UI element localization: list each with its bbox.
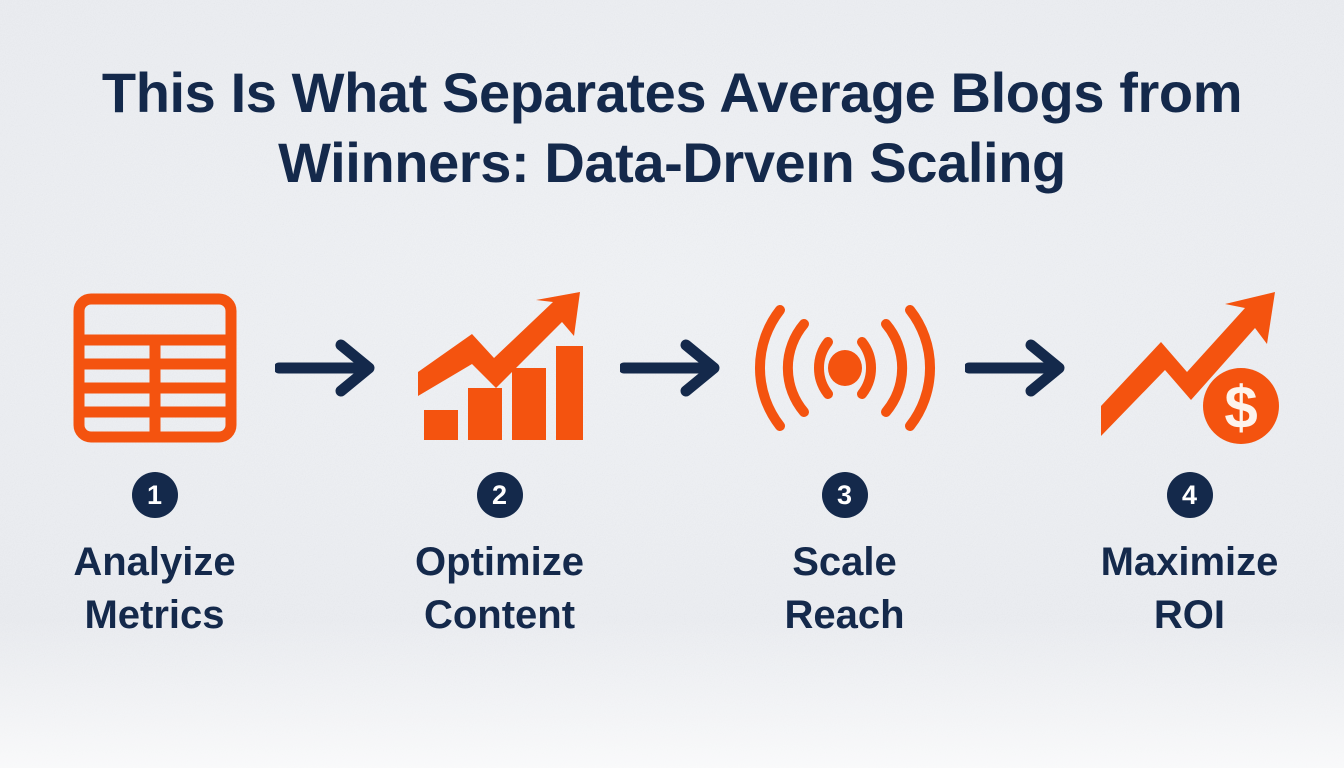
flow-connector-2 [616, 282, 728, 454]
step-4-number-badge: 4 [1167, 472, 1213, 518]
step-3-number-badge: 3 [822, 472, 868, 518]
step-4-label: Maximize ROI [1101, 536, 1279, 642]
step-4-icon-slot: $ [1095, 282, 1285, 454]
step-3-label-line-1: Scale [784, 536, 904, 589]
step-2-label-line-2: Content [415, 589, 584, 642]
bar-chart-growth-icon [414, 290, 586, 446]
flow-step-1[interactable]: 1 Analyize Metrics [38, 282, 271, 642]
step-1-label-line-2: Metrics [73, 589, 235, 642]
step-3-icon-slot [754, 282, 936, 454]
page-title: This Is What Separates Average Blogs fro… [0, 58, 1344, 198]
step-4-label-line-2: ROI [1101, 589, 1279, 642]
flow-step-4[interactable]: $ 4 Maximize ROI [1073, 282, 1306, 642]
flow-step-2[interactable]: 2 Optimize Content [383, 282, 616, 642]
step-2-icon-slot [414, 282, 586, 454]
infographic-canvas: This Is What Separates Average Blogs fro… [0, 0, 1344, 768]
step-1-icon-slot [72, 282, 238, 454]
flow-connector-3 [961, 282, 1073, 454]
arrow-right-icon [275, 339, 379, 397]
step-2-number-badge: 2 [477, 472, 523, 518]
trend-arrow-dollar-icon: $ [1095, 288, 1285, 448]
title-line-1: This Is What Separates Average Blogs fro… [0, 58, 1344, 128]
step-1-number-badge: 1 [132, 472, 178, 518]
title-line-2: Wiinners: Data-Drveın Scaling [0, 128, 1344, 198]
arrow-right-icon [965, 339, 1069, 397]
step-2-label: Optimize Content [415, 536, 584, 642]
step-3-label: Scale Reach [784, 536, 904, 642]
step-4-label-line-1: Maximize [1101, 536, 1279, 589]
table-grid-icon [72, 293, 238, 443]
broadcast-signal-icon [754, 300, 936, 436]
step-2-label-line-1: Optimize [415, 536, 584, 589]
flow-step-3[interactable]: 3 Scale Reach [728, 282, 961, 642]
step-1-label: Analyize Metrics [73, 536, 235, 642]
step-3-label-line-2: Reach [784, 589, 904, 642]
step-1-label-line-1: Analyize [73, 536, 235, 589]
arrow-right-icon [620, 339, 724, 397]
dollar-sign-glyph: $ [1224, 374, 1257, 441]
flow-connector-1 [271, 282, 383, 454]
process-flow: 1 Analyize Metrics [38, 282, 1306, 642]
